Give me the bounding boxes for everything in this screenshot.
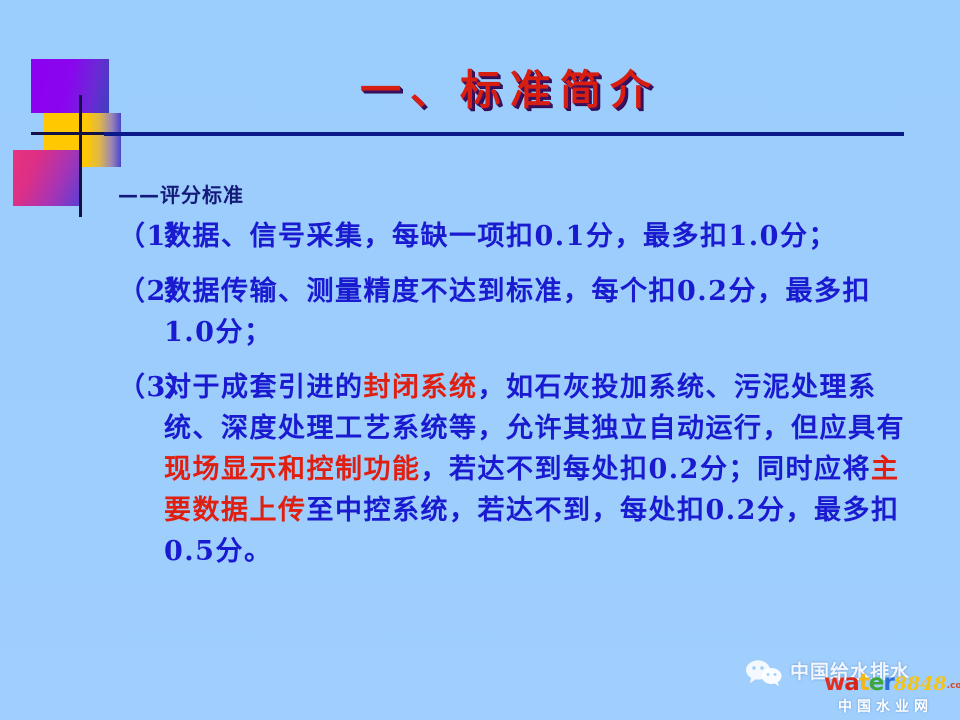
list-item-marker: （3） bbox=[118, 367, 164, 408]
page-title: 一、标准简介 bbox=[300, 56, 720, 116]
watermark: 中国给水排水 water8848.com 中国水业网 bbox=[742, 655, 960, 715]
scoring-criteria-list: （1）数据、信号采集，每缺一项扣0.1分，最多扣1.0分；（2）数据传输、测量精… bbox=[118, 216, 908, 586]
list-item-text: 数据传输、测量精度不达到标准，每个扣0.2分，最多扣1.0分； bbox=[164, 276, 871, 348]
watermark-site-name: 中国水业网 bbox=[838, 696, 933, 716]
logo-letter: e bbox=[869, 670, 884, 696]
slide-canvas: 一、标准简介 ——评分标准 （1）数据、信号采集，每缺一项扣0.1分，最多扣1.… bbox=[0, 0, 960, 720]
wechat-icon bbox=[744, 659, 784, 687]
logo-letter: w bbox=[824, 670, 844, 696]
list-item-text: 数据、信号采集，每缺一项扣0.1分，最多扣1.0分； bbox=[164, 221, 837, 252]
section-subtitle: ——评分标准 bbox=[118, 179, 244, 208]
watermark-site-logo: water8848.com bbox=[824, 672, 960, 698]
highlighted-text: 封闭系统 bbox=[364, 372, 478, 403]
logo-letter: r bbox=[883, 670, 893, 696]
list-item: （3）对于成套引进的封闭系统，如石灰投加系统、污泥处理系统、深度处理工艺系统等，… bbox=[118, 367, 908, 572]
logo-letter: a bbox=[844, 670, 859, 696]
list-item-marker: （1） bbox=[118, 216, 164, 257]
list-item-text: 对于成套引进的 bbox=[164, 372, 364, 403]
decorative-vertical-line bbox=[79, 95, 82, 217]
decorative-square-purple bbox=[31, 59, 109, 113]
list-item-marker: （2） bbox=[118, 271, 164, 312]
list-item-text: ，若达不到每处扣0.2分；同时应将 bbox=[421, 454, 871, 485]
logo-number: 8848 bbox=[894, 673, 947, 695]
decorative-square-pink bbox=[13, 150, 81, 206]
list-item: （2）数据传输、测量精度不达到标准，每个扣0.2分，最多扣1.0分； bbox=[118, 271, 908, 353]
title-divider-rule bbox=[104, 132, 904, 136]
highlighted-text: 现场显示和控制功能 bbox=[164, 454, 421, 485]
logo-tld: .com bbox=[947, 681, 960, 691]
logo-letter: t bbox=[859, 670, 869, 696]
decorative-horizontal-line bbox=[31, 132, 106, 135]
list-item: （1）数据、信号采集，每缺一项扣0.1分，最多扣1.0分； bbox=[118, 216, 908, 257]
